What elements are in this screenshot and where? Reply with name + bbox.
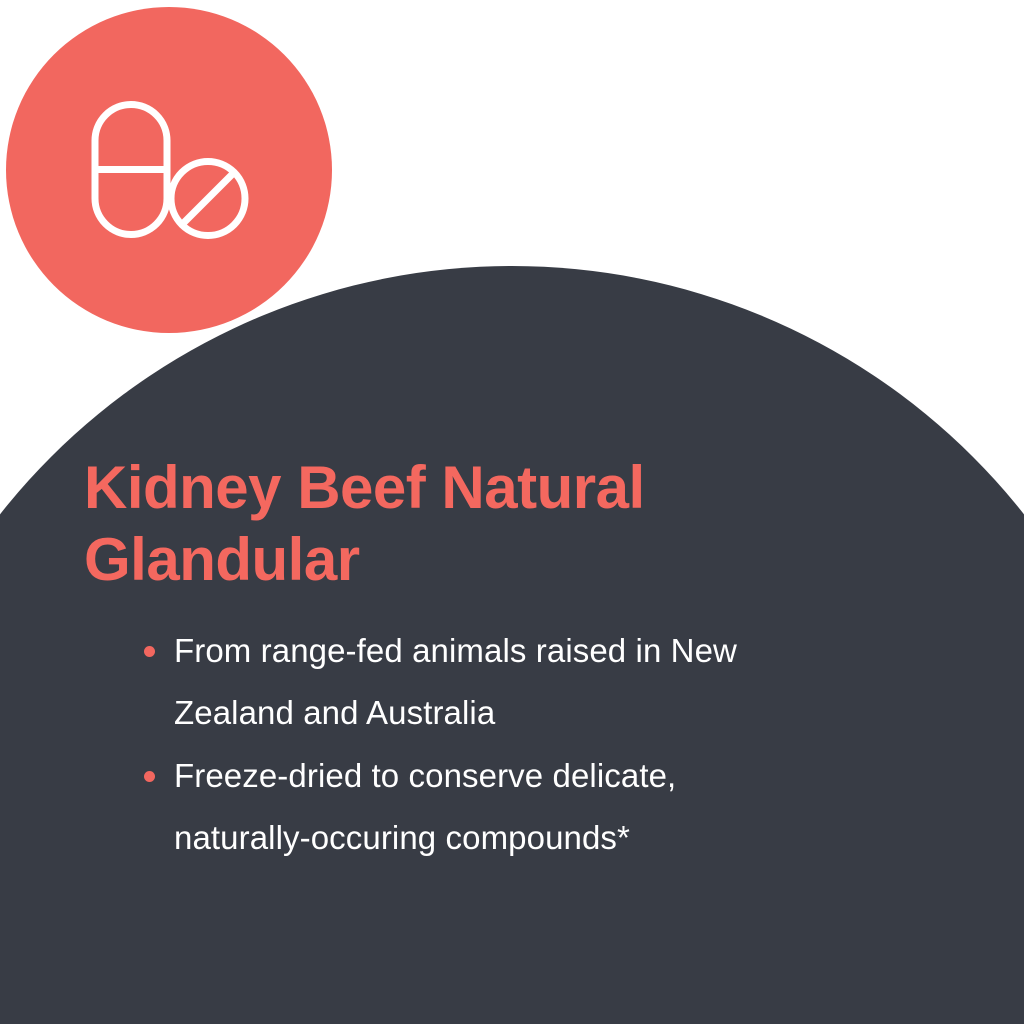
page-title: Kidney Beef Natural Glandular [84, 452, 724, 596]
feature-list: From range-fed animals raised in New Zea… [84, 620, 844, 869]
list-item-label: Freeze-dried to conserve delicate, natur… [174, 757, 676, 856]
bullet-dot-icon [144, 646, 155, 657]
product-feature-card: Kidney Beef Natural Glandular From range… [0, 0, 1024, 1024]
list-item: From range-fed animals raised in New Zea… [144, 620, 794, 744]
card-content: Kidney Beef Natural Glandular From range… [0, 0, 1024, 1024]
bullet-dot-icon [144, 771, 155, 782]
list-item: Freeze-dried to conserve delicate, natur… [144, 745, 794, 869]
list-item-label: From range-fed animals raised in New Zea… [174, 632, 737, 731]
